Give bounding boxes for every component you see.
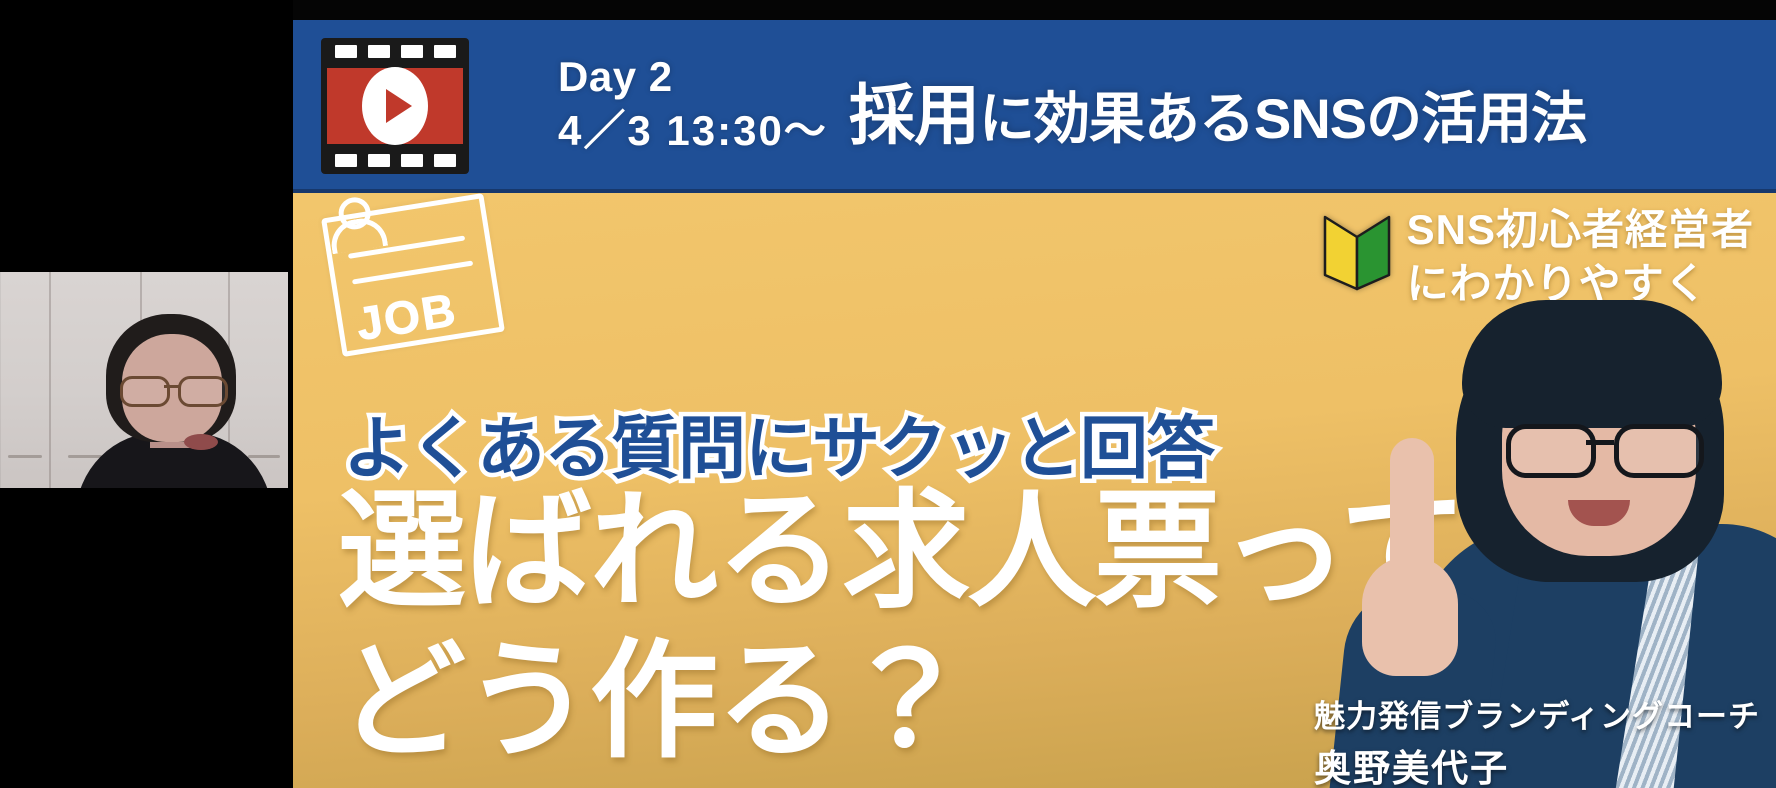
banner-schedule: Day 2 4／3 13:30〜 <box>558 50 828 158</box>
banner-title-emphasis: 採用 <box>849 78 979 152</box>
presenter-lens-left <box>1506 424 1596 478</box>
slide-body: JOB SNS初心者経営者 にわかりやすく よくある質問にサ <box>293 193 1776 788</box>
presenter-role: 魅力発信ブランディングコーチ <box>1314 691 1760 736</box>
participant-avatar <box>92 314 252 488</box>
wall-seam <box>49 272 51 488</box>
participant-video-tile[interactable] <box>0 272 288 488</box>
banner-day-label: Day 2 <box>558 50 828 104</box>
meeting-stage: Day 2 4／3 13:30〜 採用に効果あるSNSの活用法 JOB <box>0 0 1776 788</box>
presenter-name: 奥野美代子 <box>1314 738 1760 788</box>
presenter-pointing-finger <box>1390 438 1434 588</box>
camera-thumbnail-column <box>0 0 293 788</box>
headline-subline: よくある質問にサクッと回答 <box>343 393 1214 492</box>
play-button-icon <box>362 67 428 145</box>
job-paper-word: JOB <box>353 282 461 351</box>
presenter-glasses-icon <box>1506 424 1700 468</box>
glasses-lens-left <box>120 376 170 407</box>
presenter-lens-right <box>1614 424 1704 478</box>
cabinet-handle <box>8 455 42 458</box>
job-person-shoulders <box>328 215 388 254</box>
job-person-icon <box>324 193 390 259</box>
film-frame <box>327 68 463 144</box>
job-paper-rule <box>352 261 473 285</box>
glasses-icon <box>120 376 224 401</box>
presenter-caption: 魅力発信ブランディングコーチ 奥野美代子 <box>1314 691 1760 788</box>
headline-main-line2: どう作る？ <box>338 633 1466 771</box>
shared-screen-slide[interactable]: Day 2 4／3 13:30〜 採用に効果あるSNSの活用法 JOB <box>293 20 1776 788</box>
banner-datetime-label: 4／3 13:30〜 <box>558 104 828 158</box>
banner-title: 採用に効果あるSNSの活用法 <box>849 62 1586 158</box>
beginner-badge-line1: SNS初心者経営者 <box>1407 203 1754 257</box>
headline-main: 選ばれる求人票って どう作る？ <box>338 483 1466 771</box>
headline-main-line1: 選ばれる求人票って <box>338 483 1466 621</box>
slide-banner: Day 2 4／3 13:30〜 採用に効果あるSNSの活用法 <box>293 20 1776 193</box>
film-perforations-top <box>321 45 469 58</box>
wakaba-beginner-mark-icon <box>1323 211 1391 291</box>
video-play-film-icon <box>321 38 469 174</box>
presenter-hair-front <box>1462 300 1722 428</box>
film-perforations-bottom <box>321 154 469 167</box>
glasses-lens-right <box>178 376 228 407</box>
banner-title-rest: に効果あるSNSの活用法 <box>979 87 1586 150</box>
play-triangle <box>386 89 412 123</box>
presenter-glasses-bridge <box>1586 440 1614 445</box>
participant-mouth <box>184 434 218 450</box>
cabinet-handle <box>248 455 280 458</box>
job-paper-icon: JOB <box>321 193 505 357</box>
